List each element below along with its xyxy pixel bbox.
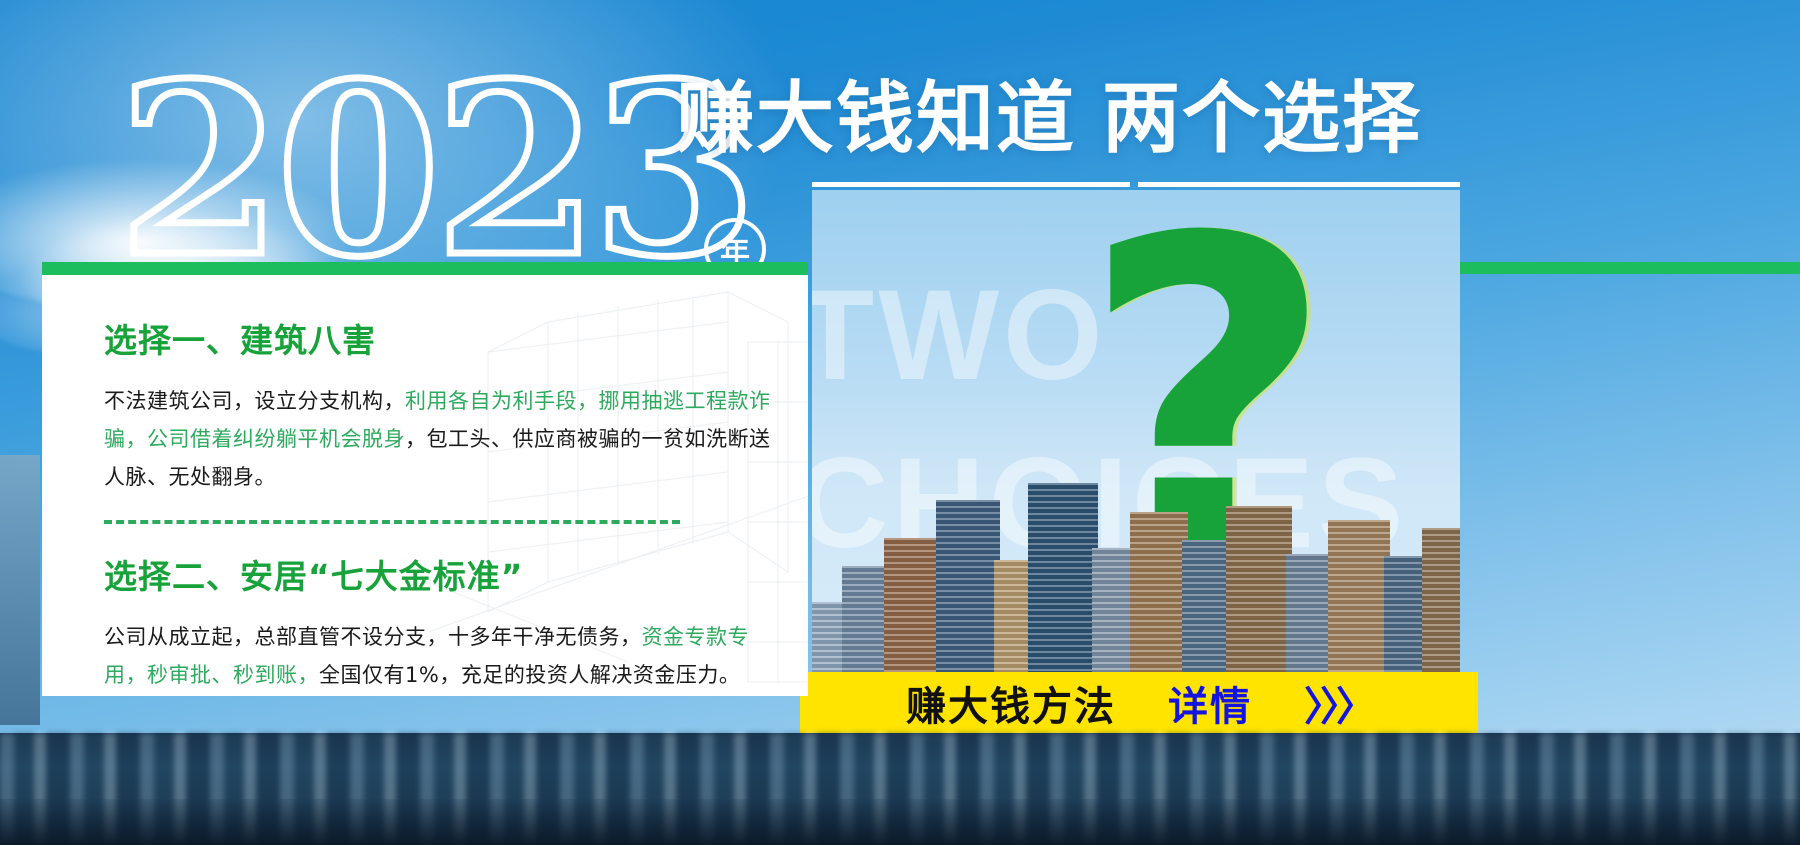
chevron-right-icon: 〉〉〉: [1304, 674, 1372, 732]
section-two-text: 公司从成立起，总部直管不设分支，十多年干净无债务，资金专款专用，秒审批、秒到账，…: [104, 618, 774, 694]
s2-line1-black: 公司从成立起，总部直管不设分支，十多年干净无债务，: [104, 625, 642, 649]
headline-rule-left: [812, 182, 1130, 187]
cta-detail-link[interactable]: 详情: [1168, 674, 1252, 732]
water-gradient: [0, 799, 1800, 845]
right-building-photo: [1590, 420, 1800, 710]
year-number: 2023: [118, 58, 718, 282]
watermark-line-1: TWO: [812, 264, 1107, 407]
section-one-text: 不法建筑公司，设立分支机构，利用各自为利手段，挪用抽逃工程款诈骗，公司借着纠纷躺…: [104, 382, 774, 496]
section-divider: [104, 520, 680, 524]
headline-rule-right: [1138, 182, 1460, 187]
cta-banner[interactable]: 赚大钱方法 详情 〉〉〉: [800, 672, 1478, 734]
city-photo-panel: TWO CHOICES ?: [812, 190, 1460, 688]
headline-part-1: 赚大钱知道: [676, 74, 1076, 164]
year-graphic: 2023 年: [118, 58, 718, 288]
s1-line1-green: 利用各自为利手段，挪用抽逃工程款: [405, 389, 749, 413]
s2-line1-green: 资金专款专: [642, 625, 750, 649]
s1-line2-black: ，包工头、供应商被骗的一贫如洗: [405, 427, 728, 451]
poster-canvas: 2023 年 赚大钱知道两个选择 TWO CHOICES ?: [0, 0, 1800, 845]
bottom-reflection-band: [0, 733, 1800, 845]
s2-line2-green: 用，秒审批、秒到账，: [104, 663, 319, 687]
left-bridge-rail: [0, 455, 40, 725]
cta-main-label: 赚大钱方法: [906, 674, 1116, 732]
skyline-graphic: [812, 478, 1460, 688]
content-card: 选择一、建筑八害 不法建筑公司，设立分支机构，利用各自为利手段，挪用抽逃工程款诈…: [42, 262, 808, 696]
s2-line2-black: 全国仅有1%，充足的投资人解决资金压力。: [319, 663, 740, 687]
right-green-strip: [1460, 262, 1800, 274]
section-two-title: 选择二、安居“七大金标准”: [104, 550, 774, 598]
section-one-title: 选择一、建筑八害: [104, 314, 774, 362]
s1-line1-black: 不法建筑公司，设立分支机构，: [104, 389, 405, 413]
page-title: 赚大钱知道两个选择: [676, 76, 1422, 162]
card-body: 选择一、建筑八害 不法建筑公司，设立分支机构，利用各自为利手段，挪用抽逃工程款诈…: [42, 262, 808, 694]
headline-part-2: 两个选择: [1102, 74, 1422, 164]
